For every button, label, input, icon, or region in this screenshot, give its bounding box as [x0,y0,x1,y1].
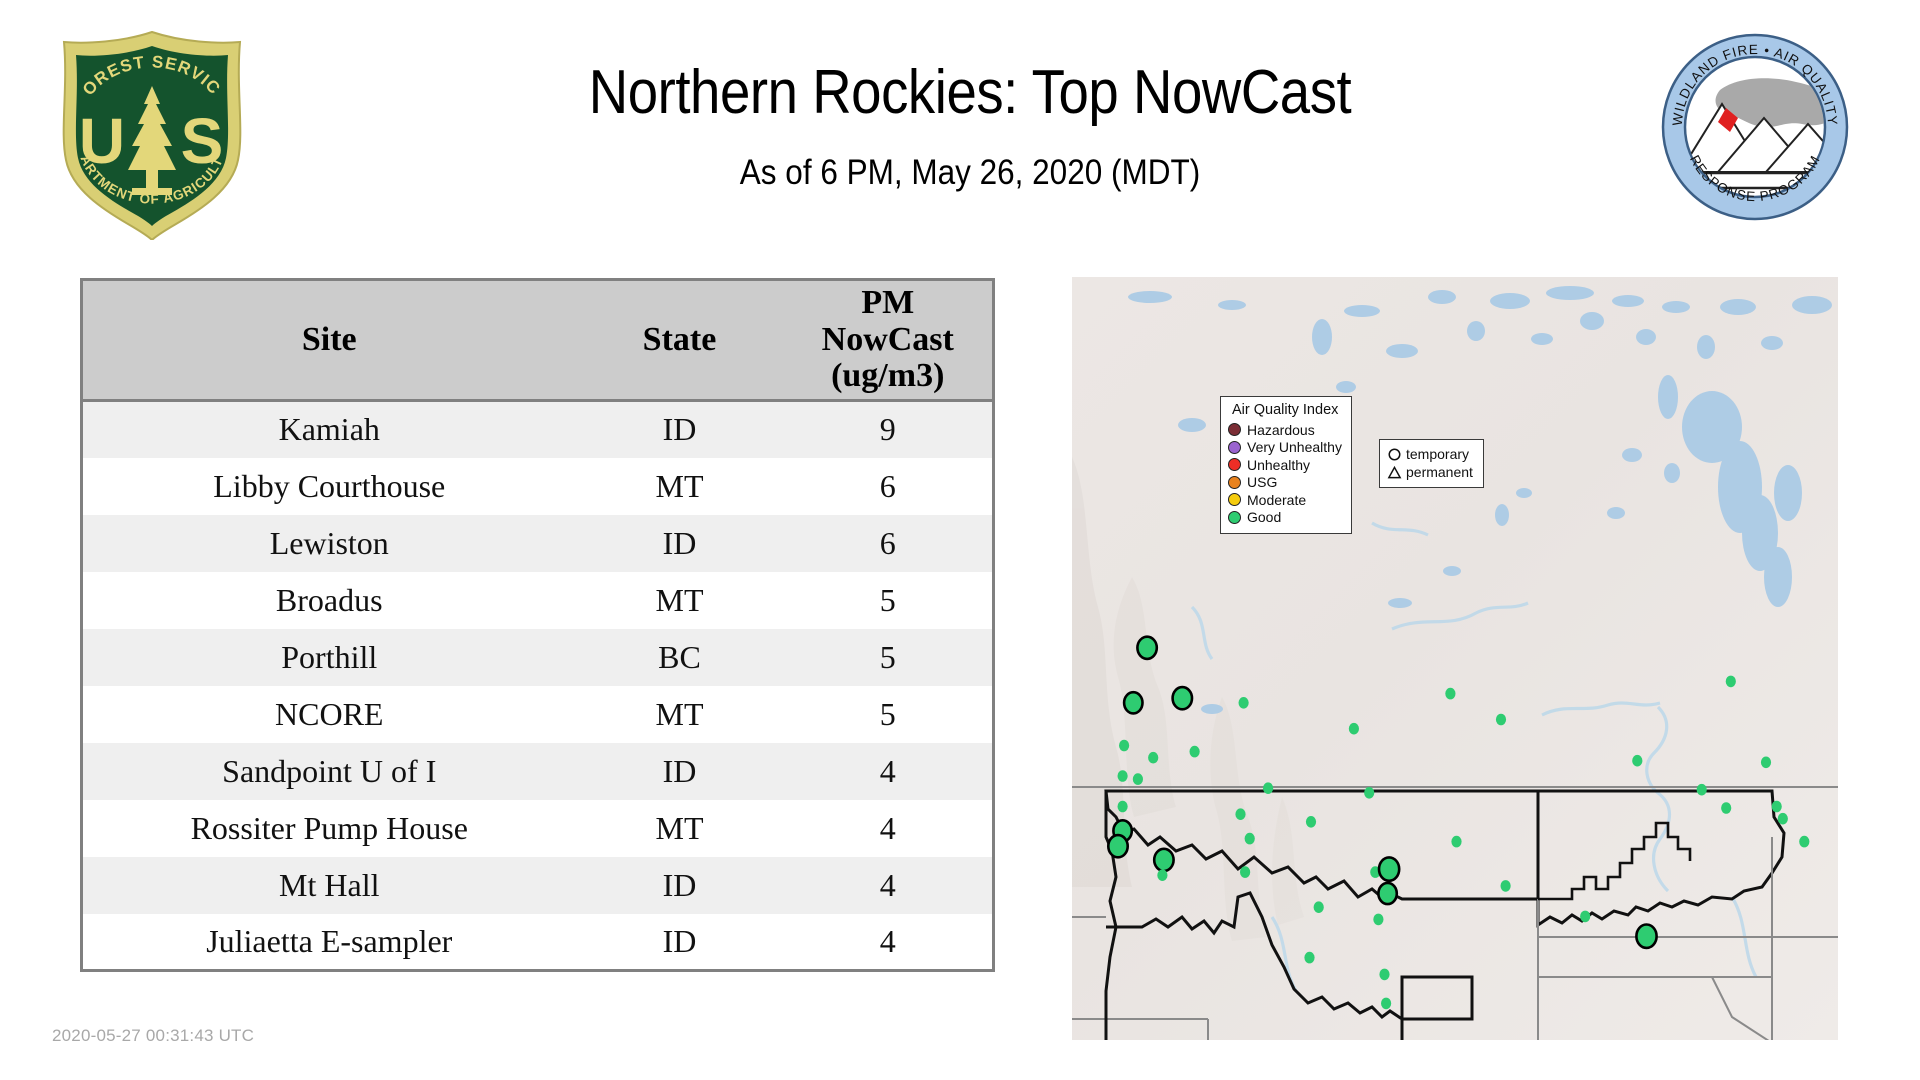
table-row[interactable]: NCORE MT 5 [82,686,994,743]
cell-site: Mt Hall [82,857,576,914]
map-monitor-point[interactable] [1501,880,1511,892]
aqi-label-hazardous: Hazardous [1247,423,1315,437]
cell-state: BC [576,629,784,686]
table-row[interactable]: Broadus MT 5 [82,572,994,629]
table-row[interactable]: Kamiah ID 9 [82,401,994,458]
cell-pm: 6 [784,458,994,515]
map-monitor-point[interactable] [1190,746,1200,758]
cell-pm: 4 [784,914,994,971]
pm-header-line-3: (ug/m3) [786,358,991,395]
aqi-legend-item-usg: USG [1228,474,1342,492]
table-row[interactable]: Lewiston ID 6 [82,515,994,572]
column-header-pm-nowcast: PM NowCast (ug/m3) [784,280,994,401]
map-monitor-point[interactable] [1378,883,1396,904]
cell-state: MT [576,572,784,629]
map-monitor-point[interactable] [1239,697,1249,709]
table-row[interactable]: Rossiter Pump House MT 4 [82,800,994,857]
map-monitor-point[interactable] [1157,869,1167,881]
table-header-row: Site State PM NowCast (ug/m3) [82,280,994,401]
map-monitor-point[interactable] [1373,914,1383,926]
map-monitor-point[interactable] [1451,836,1461,848]
aqi-legend-item-good: Good [1228,509,1342,527]
table-row[interactable]: Porthill BC 5 [82,629,994,686]
table-row[interactable]: Juliaetta E-sampler ID 4 [82,914,994,971]
table-row[interactable]: Libby Courthouse MT 6 [82,458,994,515]
map-monitor-point[interactable] [1119,740,1129,752]
cell-site: Kamiah [82,401,576,458]
aqi-legend-box: Air Quality Index Hazardous Very Unhealt… [1220,396,1352,534]
map-monitor-point[interactable] [1496,714,1506,726]
cell-state: ID [576,401,784,458]
cell-pm: 6 [784,515,994,572]
cell-state: ID [576,743,784,800]
map-monitor-point[interactable] [1235,808,1245,820]
map-monitor-point[interactable] [1381,998,1391,1010]
map-monitor-point[interactable] [1772,801,1782,813]
us-forest-service-shield-logo: FOREST SERVICE U S DEPARTMENT OF AGRICUL… [52,28,252,240]
aqi-swatch-hazardous [1228,423,1241,436]
map-monitor-point[interactable] [1364,787,1374,799]
map-basemap [1072,277,1838,1040]
map-monitor-point[interactable] [1124,692,1142,713]
aqi-legend-title: Air Quality Index [1228,402,1342,418]
table-row[interactable]: Mt Hall ID 4 [82,857,994,914]
monitor-type-legend-box: temporary permanent [1379,439,1484,488]
cell-pm: 5 [784,686,994,743]
map-monitor-point[interactable] [1697,784,1707,796]
cell-pm: 5 [784,572,994,629]
map-canvas [1072,277,1838,1040]
cell-pm: 9 [784,401,994,458]
aqi-swatch-very-unhealthy [1228,441,1241,454]
map-monitor-point[interactable] [1799,836,1809,848]
map-monitor-point[interactable] [1137,637,1156,659]
map-monitor-point[interactable] [1240,866,1250,878]
page-subtitle: As of 6 PM, May 26, 2020 (MDT) [367,153,1573,193]
map-monitor-point[interactable] [1118,770,1128,782]
map-monitor-point[interactable] [1379,857,1399,880]
monitor-type-label-permanent: permanent [1406,465,1473,479]
map-monitor-point[interactable] [1778,813,1788,825]
triangle-outline-icon [1387,465,1402,480]
cell-site: Porthill [82,629,576,686]
cell-pm: 4 [784,857,994,914]
column-header-site: Site [82,280,576,401]
wildland-fire-air-quality-program-logo: WILDLAND FIRE • AIR QUALITY RESPONSE PRO… [1660,32,1850,222]
pm-header-line-2: NowCast [786,322,991,359]
map-monitor-point[interactable] [1263,782,1273,794]
map-monitor-point[interactable] [1580,911,1590,923]
aqi-label-usg: USG [1247,475,1277,489]
map-monitor-point[interactable] [1118,801,1128,813]
generated-timestamp: 2020-05-27 00:31:43 UTC [52,1026,254,1046]
air-quality-monitor-map[interactable]: Air Quality Index Hazardous Very Unhealt… [1072,277,1838,1040]
cell-state: ID [576,914,784,971]
circle-outline-icon [1387,447,1402,462]
aqi-legend-item-hazardous: Hazardous [1228,421,1342,439]
map-monitor-point[interactable] [1314,901,1324,913]
map-monitor-point[interactable] [1173,687,1192,709]
cell-pm: 4 [784,743,994,800]
monitor-type-label-temporary: temporary [1406,447,1469,461]
cell-pm: 5 [784,629,994,686]
cell-state: ID [576,857,784,914]
cell-site: Broadus [82,572,576,629]
aqi-label-unhealthy: Unhealthy [1247,458,1310,472]
aqi-swatch-usg [1228,476,1241,489]
title-block: Northern Rockies: Top NowCast As of 6 PM… [300,58,1640,193]
monitor-type-item-permanent: permanent [1387,463,1473,481]
map-monitor-point[interactable] [1108,835,1127,857]
column-header-state: State [576,280,784,401]
cell-pm: 4 [784,800,994,857]
map-monitor-point[interactable] [1726,676,1736,688]
cell-site: Lewiston [82,515,576,572]
cell-state: MT [576,458,784,515]
aqi-label-very-unhealthy: Very Unhealthy [1247,440,1342,454]
cell-site: Sandpoint U of I [82,743,576,800]
cell-state: MT [576,686,784,743]
cell-site: Libby Courthouse [82,458,576,515]
cell-site: Rossiter Pump House [82,800,576,857]
map-monitor-point[interactable] [1445,688,1455,700]
aqi-label-moderate: Moderate [1247,493,1306,507]
cell-site: Juliaetta E-sampler [82,914,576,971]
map-monitor-point[interactable] [1306,816,1316,828]
aqi-legend-item-moderate: Moderate [1228,491,1342,509]
cell-state: ID [576,515,784,572]
table-body: Kamiah ID 9 Libby Courthouse MT 6 Lewist… [82,401,994,971]
map-monitor-point[interactable] [1148,752,1158,764]
forest-service-shield-icon: FOREST SERVICE U S DEPARTMENT OF AGRICUL… [52,28,252,240]
map-monitor-point[interactable] [1632,755,1642,767]
page-header: FOREST SERVICE U S DEPARTMENT OF AGRICUL… [0,0,1920,255]
cell-state: MT [576,800,784,857]
map-monitor-point[interactable] [1304,952,1314,964]
aqi-legend-item-unhealthy: Unhealthy [1228,456,1342,474]
map-monitor-point[interactable] [1245,833,1255,845]
page-title: Northern Rockies: Top NowCast [380,58,1559,127]
map-monitor-point[interactable] [1133,773,1143,785]
top-nowcast-table: Site State PM NowCast (ug/m3) Kamiah ID … [80,278,995,972]
program-seal-icon: WILDLAND FIRE • AIR QUALITY RESPONSE PRO… [1660,32,1850,222]
aqi-label-good: Good [1247,510,1281,524]
aqi-swatch-good [1228,511,1241,524]
aqi-swatch-moderate [1228,493,1241,506]
aqi-legend-item-very-unhealthy: Very Unhealthy [1228,439,1342,457]
map-monitor-point[interactable] [1721,802,1731,814]
pm-header-line-1: PM [786,285,991,322]
map-monitor-point[interactable] [1636,925,1656,948]
aqi-swatch-unhealthy [1228,458,1241,471]
table-row[interactable]: Sandpoint U of I ID 4 [82,743,994,800]
map-monitor-point[interactable] [1349,723,1359,735]
cell-site: NCORE [82,686,576,743]
map-monitor-point[interactable] [1154,849,1173,871]
nowcast-table-container: Site State PM NowCast (ug/m3) Kamiah ID … [80,278,992,972]
map-monitor-point[interactable] [1761,757,1771,769]
monitor-type-item-temporary: temporary [1387,445,1473,463]
map-monitor-point[interactable] [1379,969,1389,981]
